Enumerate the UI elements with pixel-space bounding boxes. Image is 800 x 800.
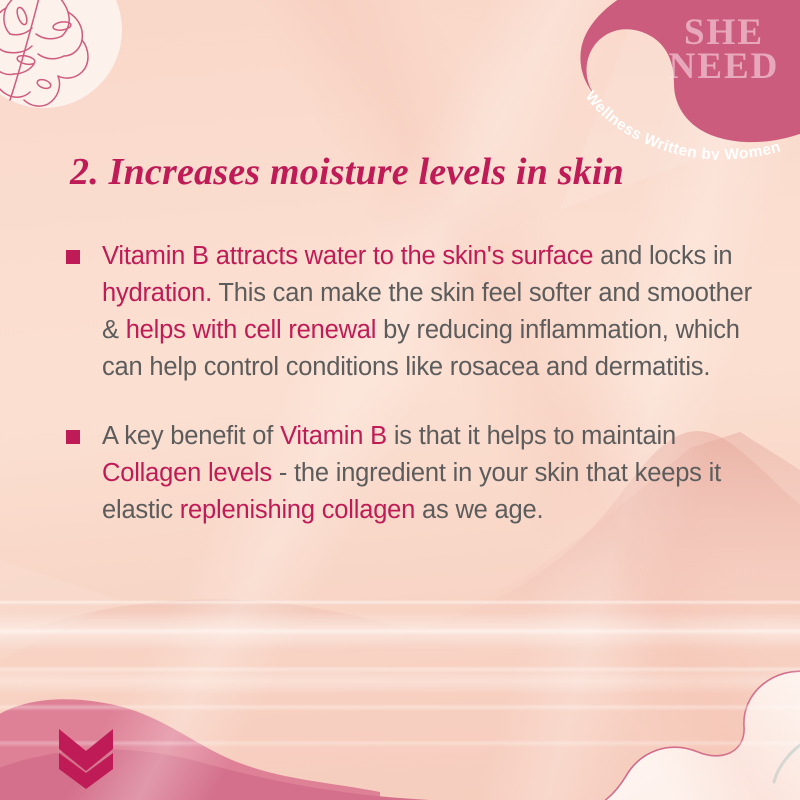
highlight-phrase: Collagen levels (102, 459, 272, 487)
brand-badge: Wellness Written by Women SHE NEED (570, 0, 800, 160)
highlight-phrase: replenishing collagen (180, 496, 415, 524)
light-wedge-left (0, 560, 120, 660)
list-item-text: A key benefit of Vitamin B is that it he… (102, 418, 756, 529)
double-chevron-logo-icon (55, 727, 117, 789)
blob-accent-stroke (774, 742, 800, 782)
bottom-right-blob (584, 671, 800, 800)
bullet-list: Vitamin B attracts water to the skin's s… (66, 238, 756, 529)
horizon-haze-2 (0, 668, 800, 694)
page-title: 2. Increases moisture levels in skin (70, 152, 624, 194)
brand-wordmark: SHE NEED (654, 16, 794, 84)
highlight-phrase: helps with cell renewal (126, 316, 377, 344)
body-phrase: as we age. (415, 496, 543, 524)
square-bullet-icon (66, 250, 80, 264)
highlight-phrase: Vitamin B attracts water to the skin's s… (102, 242, 593, 270)
list-item: Vitamin B attracts water to the skin's s… (66, 238, 756, 386)
list-item: A key benefit of Vitamin B is that it he… (66, 418, 756, 529)
highlight-phrase: hydration. (102, 279, 212, 307)
horizontal-streaks (0, 600, 800, 800)
monstera-leaf-badge (0, 0, 124, 120)
body-phrase: and locks in (593, 242, 732, 270)
body-phrase: A key benefit of (102, 422, 280, 450)
brand-wordmark-line1: SHE (654, 16, 794, 50)
brand-wordmark-line2: NEED (654, 50, 794, 84)
square-bullet-icon (66, 430, 80, 444)
dune-left (0, 599, 470, 660)
bottom-right-blob-outline (584, 671, 800, 800)
body-phrase: is that it helps to maintain (387, 422, 676, 450)
list-item-text: Vitamin B attracts water to the skin's s… (102, 238, 756, 386)
highlight-phrase: Vitamin B (280, 422, 387, 450)
horizon-haze (0, 612, 800, 650)
social-post-card: Wellness Written by Women SHE NEED Welln… (0, 0, 800, 800)
